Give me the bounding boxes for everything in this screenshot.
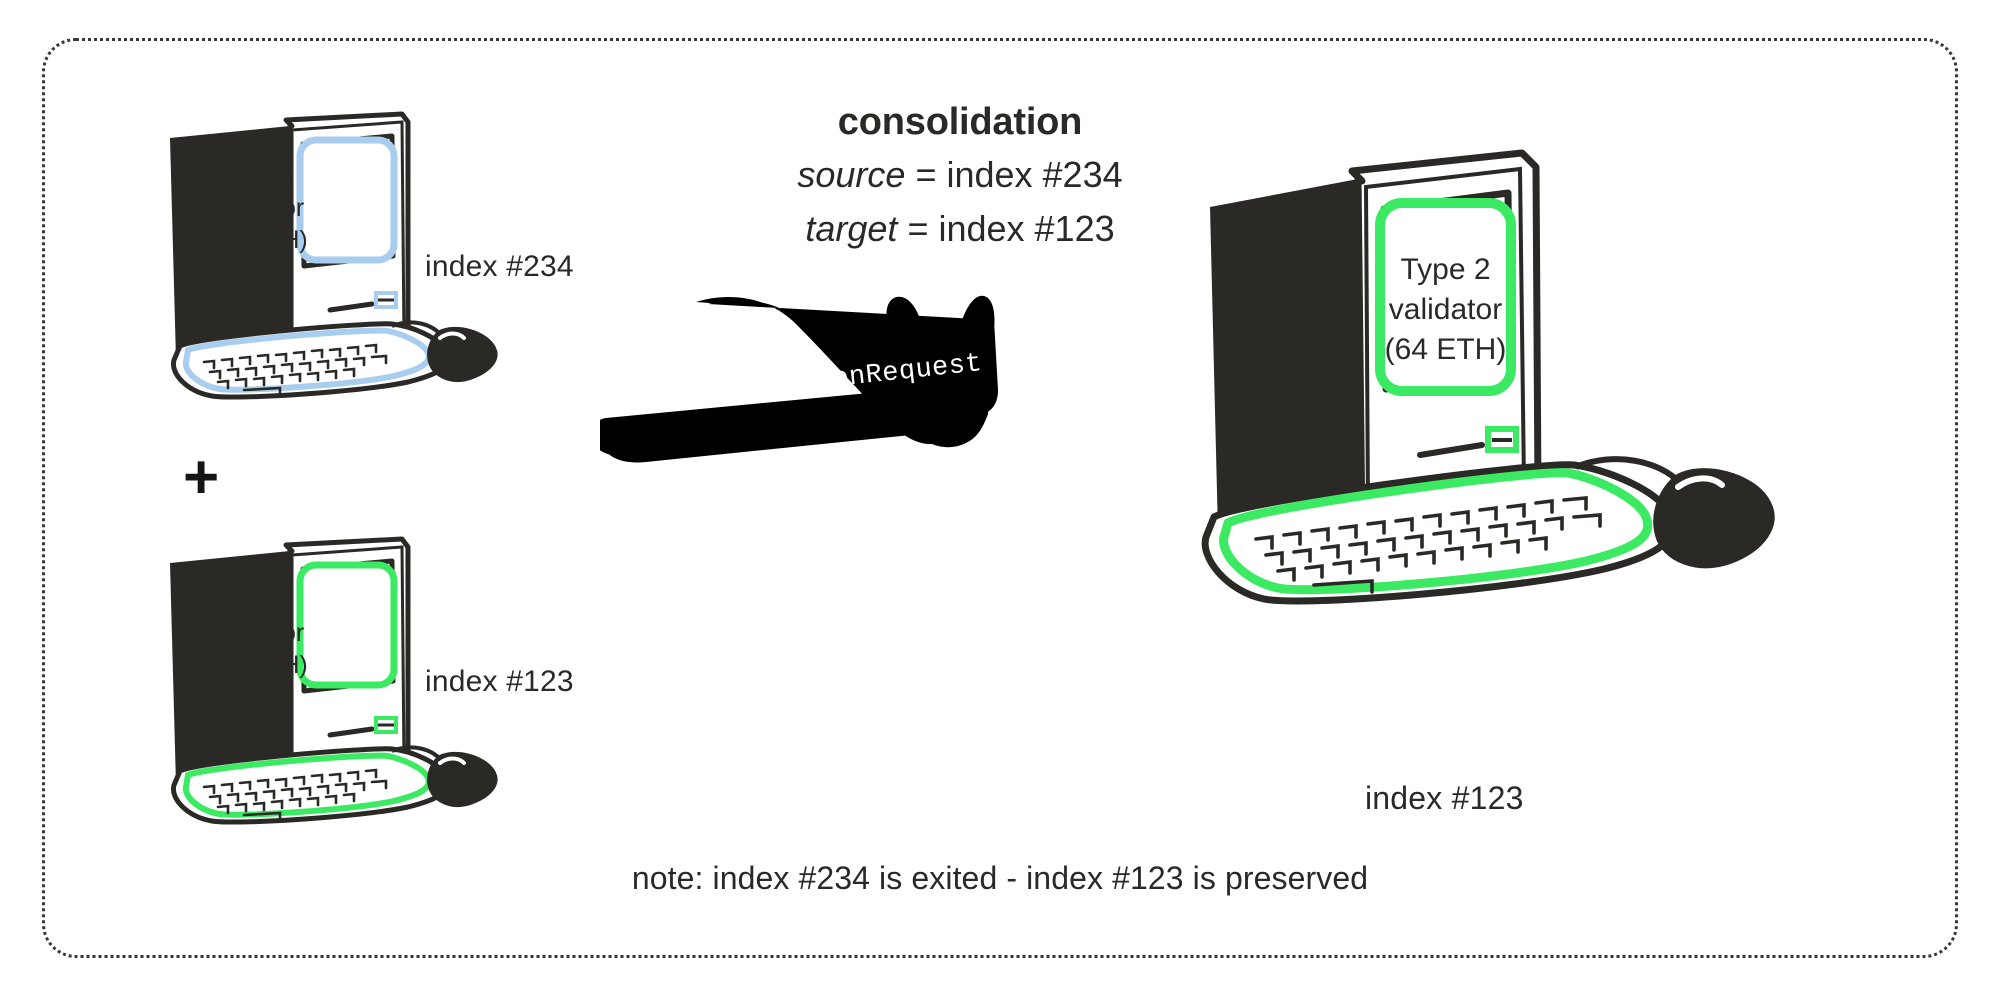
- target-value: = index #123: [907, 208, 1114, 249]
- computer-case-shadow: [1210, 179, 1362, 533]
- computer-case-shadow: [170, 126, 292, 360]
- computer-result-type2: [1190, 165, 1890, 665]
- source-line: source = index #234: [640, 151, 1280, 200]
- consolidation-header: consolidation source = index #234 target…: [640, 100, 1280, 254]
- target-line: target = index #123: [640, 205, 1280, 254]
- target-keyword: target: [805, 208, 897, 249]
- computer-case-shadow: [170, 551, 292, 785]
- footer-note: note: index #234 is exited - index #123 …: [0, 860, 2000, 897]
- index-label-source-type2: index #123: [425, 665, 574, 699]
- computer-screen-accent-frame: [300, 140, 394, 260]
- computer-screen-accent-frame: [1380, 203, 1511, 391]
- diagram-canvas: Type 1 validator (32 ETH) index #234 +: [0, 0, 2000, 1000]
- index-label-result: index #123: [1365, 780, 1524, 817]
- plus-sign: +: [183, 447, 219, 509]
- source-value: = index #234: [915, 154, 1122, 195]
- page-title: consolidation: [640, 100, 1280, 145]
- source-keyword: source: [797, 154, 905, 195]
- computer-screen-accent-frame: [300, 565, 394, 685]
- index-label-source-type1: index #234: [425, 250, 574, 284]
